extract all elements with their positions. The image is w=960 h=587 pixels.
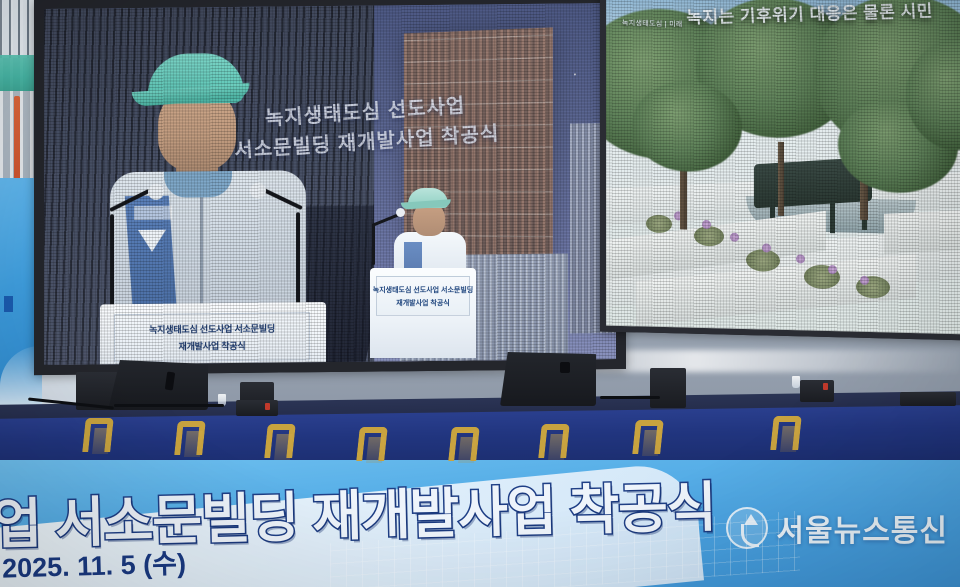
pavilion-leg [830, 199, 835, 233]
real-microphone-stand [372, 225, 375, 265]
speaker-badge [134, 206, 172, 220]
park-planter-right [884, 209, 960, 254]
park-flower [730, 233, 739, 242]
watermark-agency-name: 서울뉴스통신 [776, 506, 948, 550]
stage-monitor-right [500, 352, 596, 406]
lectern-sign-on-screen: 녹지생태도심 선도사업 서소문빌딩 재개발사업 착공식 [114, 312, 310, 362]
sky-sparkle [394, 113, 396, 115]
chair-back [538, 424, 570, 458]
real-microphone-head [396, 208, 405, 217]
equipment-base-center [236, 400, 278, 416]
speaker-mint-cap [148, 53, 244, 104]
ceremony-photo: 녹지생태도심 선도사업 서소문빌딩 재개발사업 착공식 녹지생태도심 선도사업 … [0, 0, 960, 587]
equipment-red-indicator-right [823, 383, 828, 390]
park-flower [828, 265, 837, 274]
bottom-banner: 업 서소문빌딩 재개발사업 착공식 2025. 11. 5 (수) 서울뉴스통신 [0, 460, 960, 587]
water-cup-right [792, 376, 800, 388]
park-flower [762, 243, 771, 252]
real-podium-sign-line2: 재개발사업 착공식 [396, 298, 449, 308]
equipment-red-indicator [265, 403, 270, 410]
equipment-box-far-right [900, 392, 956, 406]
chair-back [356, 427, 388, 461]
park-flower [796, 254, 805, 263]
park-flower [702, 220, 711, 229]
main-led-screen: 녹지생태도심 선도사업 서소문빌딩 재개발사업 착공식 녹지생태도심 선도사업 … [34, 0, 626, 375]
tree-trunk [778, 142, 784, 216]
park-render-content: 녹지생태도심 | 미래 녹지는 기후위기 대응은 물론 시민 [606, 0, 960, 334]
park-shrub [646, 215, 672, 234]
chair-back [82, 418, 114, 452]
microphone-head-left [148, 184, 164, 200]
watermark: 서울뉴스통신 [726, 506, 948, 550]
real-speaker-mint-cap [408, 188, 448, 208]
equipment-speaker-right [650, 368, 686, 408]
banner-date: 2025. 11. 5 (수) [1, 541, 186, 585]
stage-cable [600, 396, 660, 399]
chair-back [264, 424, 296, 458]
real-podium-sign: 녹지생태도심 선도사업 서소문빌딩 재개발사업 착공식 [376, 276, 470, 316]
stage-monitor-handle-right [560, 362, 570, 373]
seoul-news-logo-icon [726, 507, 768, 549]
sky-sparkle [574, 73, 576, 75]
park-render-screen: 녹지생태도심 | 미래 녹지는 기후위기 대응은 물론 시민 [600, 0, 960, 341]
chair-back [632, 420, 664, 454]
chair-back [448, 427, 480, 461]
lectern-sign-line2: 재개발사업 착공식 [179, 339, 246, 353]
real-podium: 녹지생태도심 선도사업 서소문빌딩 재개발사업 착공식 [370, 250, 476, 358]
main-screen-content: 녹지생태도심 선도사업 서소문빌딩 재개발사업 착공식 녹지생태도심 선도사업 … [44, 3, 616, 365]
stage-cable [114, 404, 224, 407]
stage-monitor-left [108, 360, 208, 410]
left-banner-mark [4, 296, 13, 312]
equipment-box-right [800, 380, 834, 402]
real-podium-sign-line1: 녹지생태도심 선도사업 서소문빌딩 [373, 285, 474, 295]
orange-pole [14, 96, 20, 182]
microphone-head-right [250, 183, 266, 199]
park-flower [860, 276, 869, 285]
lectern-sign-line1: 녹지생태도심 선도사업 서소문빌딩 [149, 322, 275, 336]
chair-back [174, 421, 206, 455]
park-shrub [746, 249, 780, 272]
chair-back [770, 416, 802, 450]
park-shrub [694, 226, 724, 247]
park-corner-label: 녹지생태도심 | 미래 [622, 18, 683, 29]
